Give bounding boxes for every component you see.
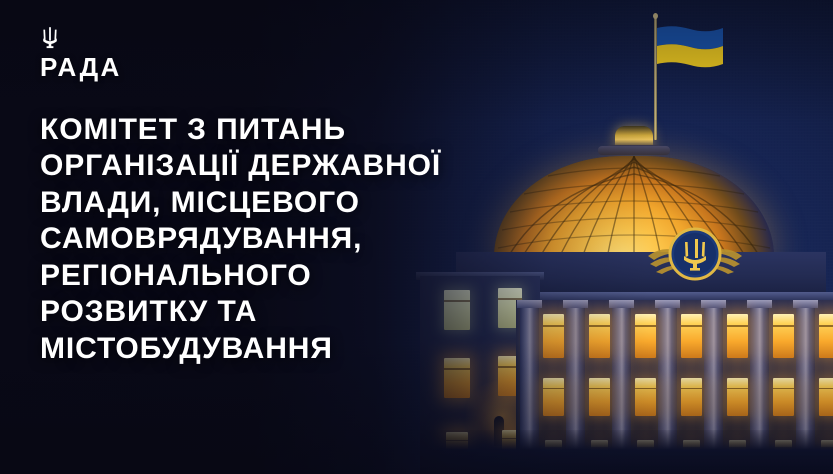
- ukrainian-trident-icon: [40, 26, 60, 50]
- title-line: РЕГІОНАЛЬНОГО: [40, 258, 600, 294]
- promo-banner: РАДА КОМІТЕТ З ПИТАНЬ ОРГАНІЗАЦІЇ ДЕРЖАВ…: [0, 0, 833, 474]
- title-line: КОМІТЕТ З ПИТАНЬ: [40, 112, 600, 148]
- content-layer: РАДА КОМІТЕТ З ПИТАНЬ ОРГАНІЗАЦІЇ ДЕРЖАВ…: [0, 0, 833, 474]
- title-line: ОРГАНІЗАЦІЇ ДЕРЖАВНОЇ: [40, 148, 600, 184]
- brand-name: РАДА: [40, 54, 240, 80]
- title-line: МІСТОБУДУВАННЯ: [40, 331, 600, 367]
- page-title: КОМІТЕТ З ПИТАНЬ ОРГАНІЗАЦІЇ ДЕРЖАВНОЇ В…: [40, 112, 600, 367]
- brand-logo[interactable]: РАДА: [40, 26, 240, 80]
- title-line: САМОВРЯДУВАННЯ,: [40, 221, 600, 257]
- title-line: ВЛАДИ, МІСЦЕВОГО: [40, 185, 600, 221]
- title-line: РОЗВИТКУ ТА: [40, 294, 600, 330]
